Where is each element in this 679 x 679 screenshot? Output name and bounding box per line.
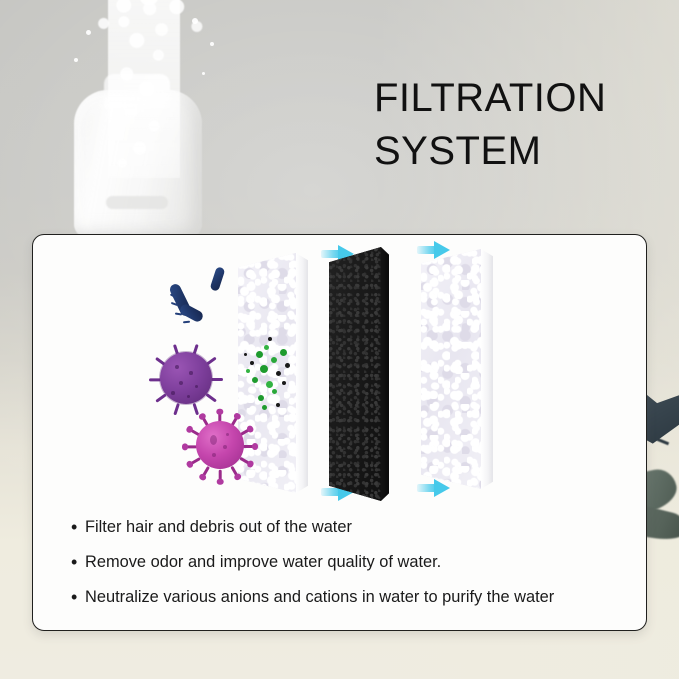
list-item: • Neutralize various anions and cations … [71, 587, 626, 609]
bacteria-colony [252, 377, 258, 383]
bullet-marker-icon: • [71, 587, 85, 609]
pre-filter-edge [296, 253, 308, 493]
bacteria-colony [276, 371, 281, 376]
water-splash-crown [86, 0, 212, 66]
bacterium-cilium [183, 321, 190, 323]
virus-purple [155, 347, 217, 409]
water-droplet [74, 58, 78, 62]
post-filter-layer [421, 249, 497, 489]
bacteria-colony [276, 403, 280, 407]
bacterium-rod-small [209, 267, 229, 293]
bullet-marker-icon: • [71, 517, 85, 539]
bacterium-body [178, 303, 204, 324]
carbon-filter-edge [381, 247, 389, 501]
bacteria-colony [268, 337, 272, 341]
bacteria-colony [266, 381, 273, 388]
bacteria-colony [264, 345, 269, 350]
bacteria-colony [244, 353, 247, 356]
bacteria-colony [246, 369, 250, 373]
water-droplet [210, 42, 214, 46]
product-infographic: FILTRATION SYSTEM [0, 0, 679, 679]
list-item: • Filter hair and debris out of the wate… [71, 517, 626, 539]
bottle-grip [106, 196, 168, 209]
water-droplet [202, 72, 205, 75]
water-droplet [86, 30, 91, 35]
three-stage-filter-diagram [33, 235, 646, 500]
bacteria-colony [250, 361, 254, 365]
bacteria-colony [282, 381, 286, 385]
feature-bullet-list: • Filter hair and debris out of the wate… [71, 517, 626, 622]
list-item-text: Remove odor and improve water quality of… [85, 552, 626, 574]
virus-capsid [160, 352, 212, 404]
list-item-text: Filter hair and debris out of the water [85, 517, 626, 539]
post-filter-edge [481, 249, 493, 489]
list-item-text: Neutralize various anions and cations in… [85, 587, 626, 609]
feature-card: • Filter hair and debris out of the wate… [32, 234, 647, 631]
post-filter-face [421, 249, 481, 489]
carbon-filter-layer [329, 247, 393, 501]
carbon-filter-face [329, 247, 381, 501]
bacteria-colony [258, 395, 264, 401]
page-title: FILTRATION SYSTEM [374, 72, 674, 178]
bacteria-colony [285, 363, 290, 368]
bacteria-colony [272, 389, 277, 394]
bacteria-colony [280, 349, 287, 356]
bacteria-colony [256, 351, 263, 358]
water-droplet [192, 18, 198, 24]
bacteria-colony [260, 365, 268, 373]
water-bottle [60, 0, 260, 240]
bacteria-colony [262, 405, 267, 410]
bacterium-cilium [175, 313, 182, 316]
virus-capsid [196, 421, 244, 469]
virus-magenta [190, 415, 250, 475]
bullet-marker-icon: • [71, 552, 85, 574]
list-item: • Remove odor and improve water quality … [71, 552, 626, 574]
bacteria-colony [271, 357, 277, 363]
bacterium-body [210, 266, 226, 292]
